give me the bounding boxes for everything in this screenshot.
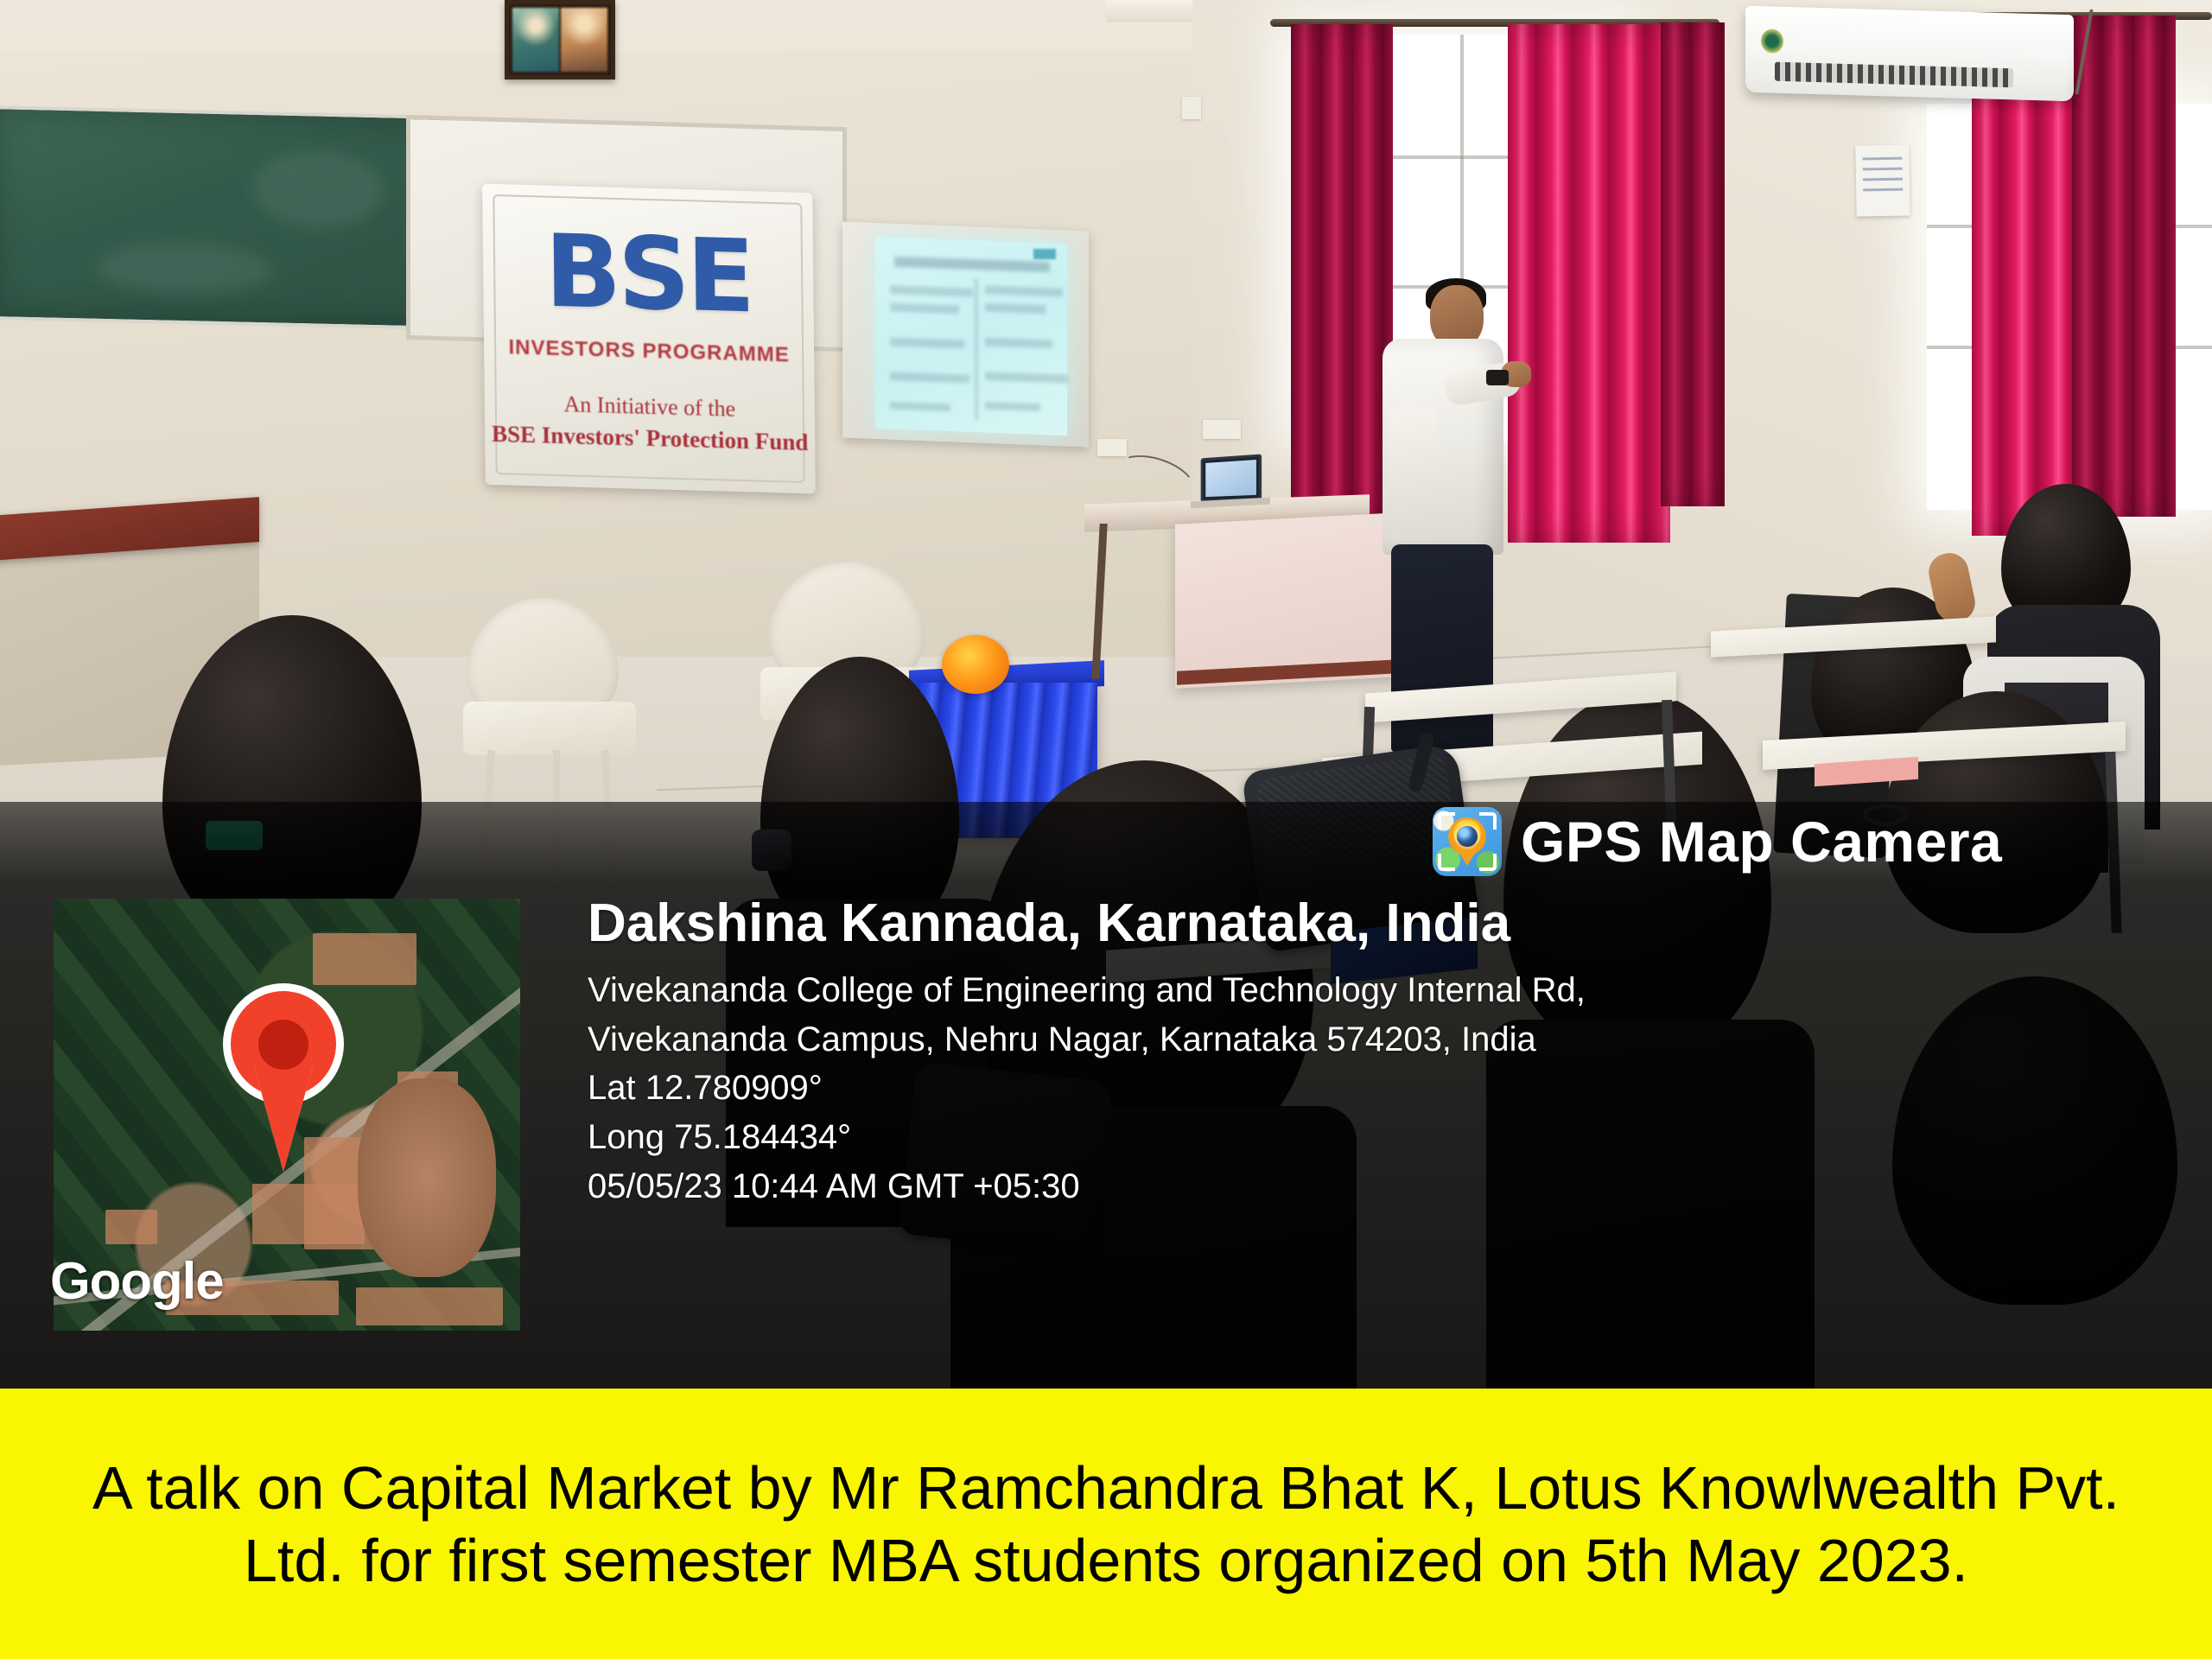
gps-info-block: Dakshina Kannada, Karnataka, India Vivek… [588, 895, 1586, 1211]
slide-logo-blur [1033, 249, 1056, 259]
gps-latitude: Lat 12.780909° [588, 1064, 1586, 1113]
map-pin-icon [223, 983, 344, 1104]
picture-left-pane [512, 8, 559, 72]
curtain-panel-2 [1508, 24, 1670, 543]
ac-vent [1775, 62, 2013, 88]
wall-socket [1203, 420, 1241, 439]
bracket-top-right-icon [1479, 812, 1497, 829]
picture-right-pane [561, 8, 607, 72]
wall-notice [1855, 144, 1910, 216]
gps-app-header: GPS Map Camera [1433, 807, 2002, 876]
green-chalkboard [0, 105, 449, 330]
gps-address-line-2: Vivekananda Campus, Nehru Nagar, Karnata… [588, 1015, 1586, 1065]
laptop [1201, 454, 1262, 502]
speaker-arm [1389, 406, 1438, 536]
google-watermark: Google [50, 1251, 224, 1311]
gps-address-line-1: Vivekananda College of Engineering and T… [588, 966, 1586, 1015]
presentation-clicker [1486, 370, 1509, 385]
wall-switch-1 [1182, 97, 1201, 119]
screenshot-root: BSE INVESTORS PROGRAMME An Initiative of… [0, 0, 2212, 1659]
bse-banner: BSE INVESTORS PROGRAMME An Initiative of… [482, 184, 816, 494]
ac-brand-badge [1761, 29, 1783, 54]
curtain-panel-5 [2072, 16, 2176, 517]
wall-socket-2 [1097, 439, 1127, 456]
gps-longitude: Long 75.184434° [588, 1113, 1586, 1162]
air-conditioner [1745, 6, 2074, 102]
yellow-caption-bar: A talk on Capital Market by Mr Ramchandr… [0, 1389, 2212, 1659]
gps-map-camera-overlay: GPS Map Camera Google Dakshina Kannada, … [0, 802, 2212, 1389]
gps-timestamp: 05/05/23 10:44 AM GMT +05:30 [588, 1162, 1586, 1211]
caption-text: A talk on Capital Market by Mr Ramchandr… [52, 1452, 2160, 1597]
speaker-trousers [1391, 544, 1493, 752]
gps-place-name: Dakshina Kannada, Karnataka, India [588, 895, 1586, 952]
curtain-panel-1 [1291, 24, 1393, 525]
bracket-bottom-left-icon [1438, 854, 1455, 871]
curtain-panel-3 [1661, 22, 1725, 506]
marigold-flowers [942, 635, 1009, 694]
wall-picture-frame [505, 0, 615, 79]
bse-logo-text: BSE [483, 220, 814, 330]
camera-lens-icon [1457, 826, 1478, 847]
gps-map-camera-icon [1433, 807, 1502, 876]
bracket-bottom-right-icon [1479, 854, 1497, 871]
gps-app-title: GPS Map Camera [1521, 809, 2002, 874]
bracket-top-left-icon [1438, 812, 1455, 829]
